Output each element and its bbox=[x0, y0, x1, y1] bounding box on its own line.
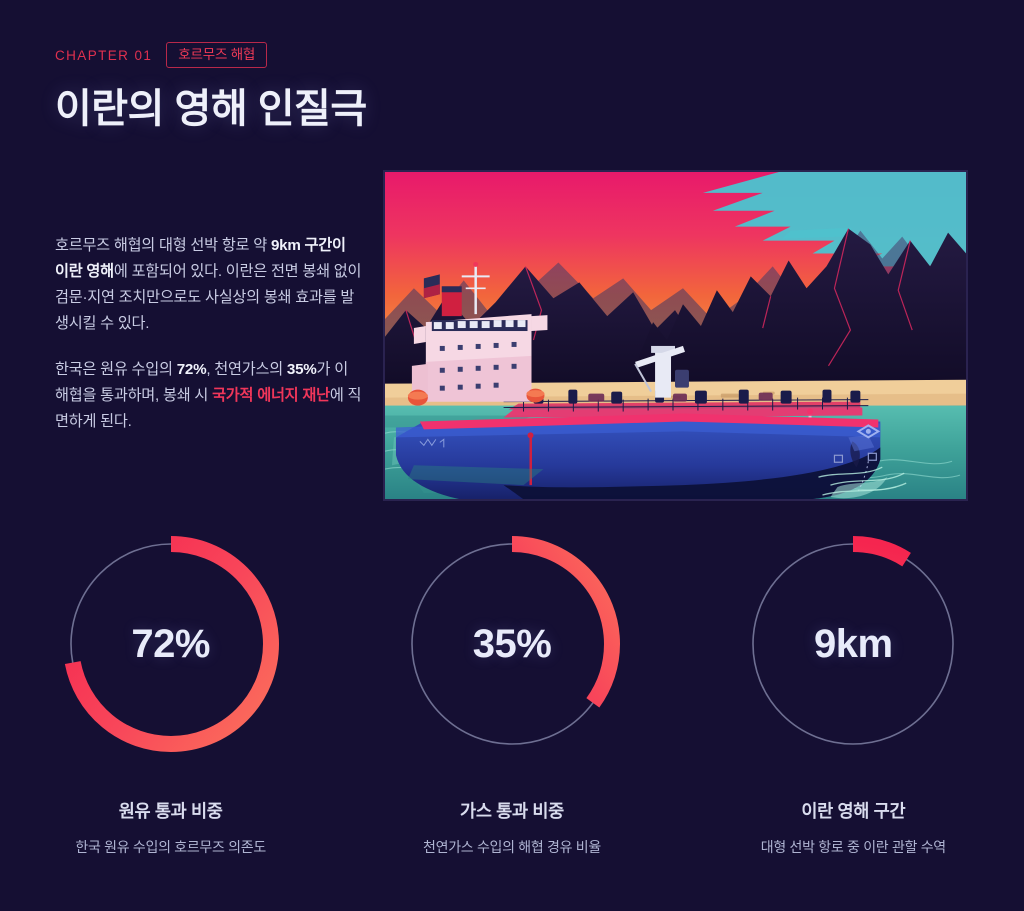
copy-paragraph-2: 한국은 원유 수입의 72%, 천연가스의 35%가 이 해협을 통과하며, 봉… bbox=[55, 357, 363, 435]
stats-row: 72% 원유 통과 비중 한국 원유 수입의 호르무즈 의존도 bbox=[0, 528, 1024, 857]
donut-value-2: 9km bbox=[737, 528, 969, 760]
stat-subtitle-0: 한국 원유 수입의 호르무즈 의존도 bbox=[75, 837, 265, 857]
copy-p2-bold2: 35% bbox=[287, 361, 317, 378]
page-title: 이란의 영해 인질극 bbox=[55, 86, 955, 133]
copy-p2-part1: 한국은 원유 수입의 bbox=[55, 361, 177, 378]
copy-p2-bold1: 72% bbox=[177, 361, 207, 378]
donut-chart-1: 35% bbox=[396, 528, 628, 760]
copy-p1-part1: 호르무즈 해협의 대형 선박 항로 약 bbox=[55, 237, 271, 254]
copy-paragraph-1: 호르무즈 해협의 대형 선박 항로 약 9km 구간이 이란 영해에 포함되어 … bbox=[55, 233, 363, 338]
copy-p2-part2: , 천연가스의 bbox=[206, 361, 287, 378]
chapter-label: CHAPTER 01 bbox=[55, 48, 152, 63]
stat-card-0: 72% 원유 통과 비중 한국 원유 수입의 호르무즈 의존도 bbox=[0, 528, 341, 857]
stat-title-2: 이란 영해 구간 bbox=[801, 798, 905, 823]
donut-chart-0: 72% bbox=[55, 528, 287, 760]
donut-value-1: 35% bbox=[396, 528, 628, 760]
page-header: CHAPTER 01 호르무즈 해협 이란의 영해 인질극 bbox=[55, 40, 955, 133]
stat-subtitle-1: 천연가스 수입의 해협 경유 비율 bbox=[423, 837, 601, 857]
stat-title-1: 가스 통과 비중 bbox=[460, 798, 564, 823]
stat-card-1: 35% 가스 통과 비중 천연가스 수입의 해협 경유 비율 bbox=[341, 528, 682, 857]
tanker-illustration bbox=[383, 170, 968, 501]
stat-card-2: 9km 이란 영해 구간 대형 선박 항로 중 이란 관할 수역 bbox=[683, 528, 1024, 857]
donut-chart-2: 9km bbox=[737, 528, 969, 760]
chapter-badge: 호르무즈 해협 bbox=[166, 42, 267, 69]
body-copy: 호르무즈 해협의 대형 선박 항로 약 9km 구간이 이란 영해에 포함되어 … bbox=[55, 233, 363, 435]
copy-p2-danger: 국가적 에너지 재난 bbox=[212, 387, 330, 404]
tanker-illustration-svg bbox=[384, 171, 967, 500]
chapter-row: CHAPTER 01 호르무즈 해협 bbox=[55, 40, 955, 70]
stat-title-0: 원유 통과 비중 bbox=[119, 798, 223, 823]
stat-subtitle-2: 대형 선박 항로 중 이란 관할 수역 bbox=[761, 837, 946, 857]
donut-value-0: 72% bbox=[55, 528, 287, 760]
infographic-page: CHAPTER 01 호르무즈 해협 이란의 영해 인질극 호르무즈 해협의 대… bbox=[0, 0, 1024, 911]
